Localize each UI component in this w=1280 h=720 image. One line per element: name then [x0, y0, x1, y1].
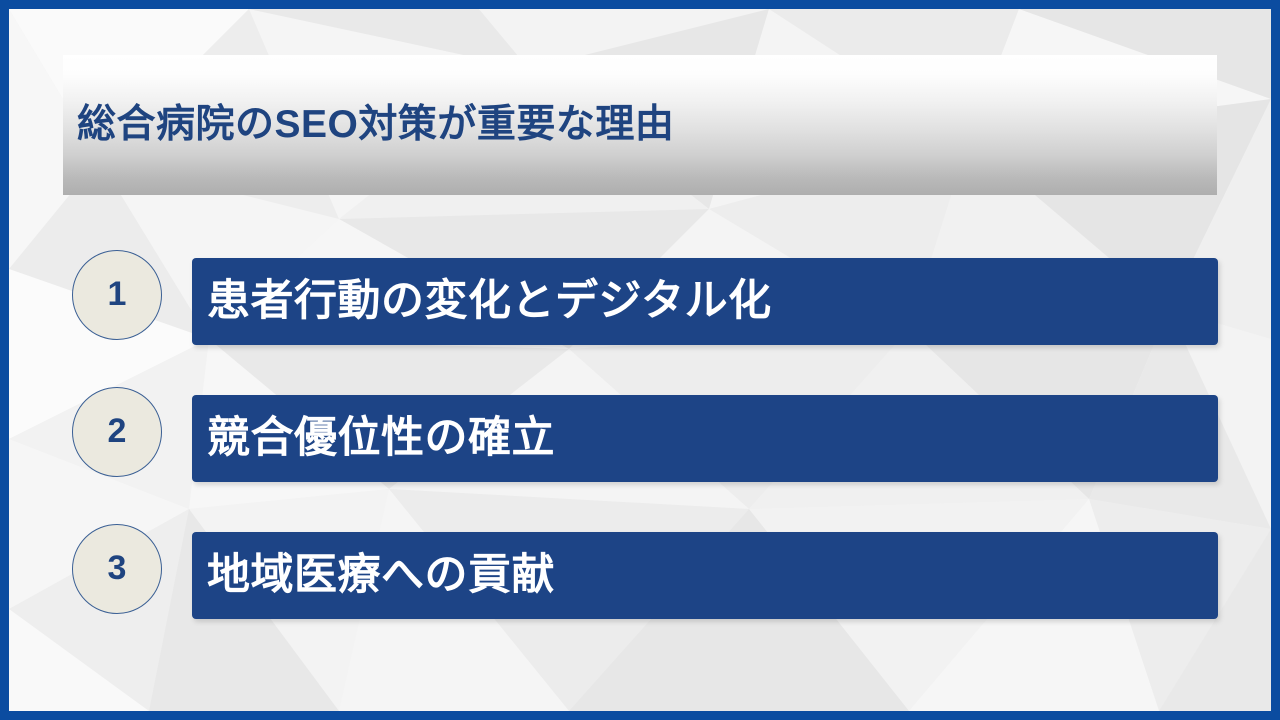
item-label: 地域医療への貢献 [192, 553, 555, 598]
item-number: 1 [108, 277, 127, 311]
item-number-badge: 1 [72, 250, 162, 340]
list-item[interactable]: 1 患者行動の変化とデジタル化 [9, 249, 1271, 341]
page-title: 総合病院のSEO対策が重要な理由 [63, 104, 674, 147]
item-bar[interactable]: 地域医療への貢献 [192, 532, 1218, 619]
item-bar[interactable]: 患者行動の変化とデジタル化 [192, 258, 1218, 345]
item-number-badge: 2 [72, 387, 162, 477]
list-item[interactable]: 3 地域医療への貢献 [9, 523, 1271, 615]
slide-canvas: 総合病院のSEO対策が重要な理由 1 患者行動の変化とデジタル化 2 競合優位性… [9, 9, 1271, 711]
title-bar: 総合病院のSEO対策が重要な理由 [63, 55, 1217, 195]
item-label: 競合優位性の確立 [192, 416, 555, 461]
list-item[interactable]: 2 競合優位性の確立 [9, 386, 1271, 478]
item-number-badge: 3 [72, 524, 162, 614]
item-number: 2 [108, 414, 127, 448]
slide: 総合病院のSEO対策が重要な理由 1 患者行動の変化とデジタル化 2 競合優位性… [0, 0, 1280, 720]
item-number: 3 [108, 551, 127, 585]
item-label: 患者行動の変化とデジタル化 [192, 279, 772, 324]
item-bar[interactable]: 競合優位性の確立 [192, 395, 1218, 482]
